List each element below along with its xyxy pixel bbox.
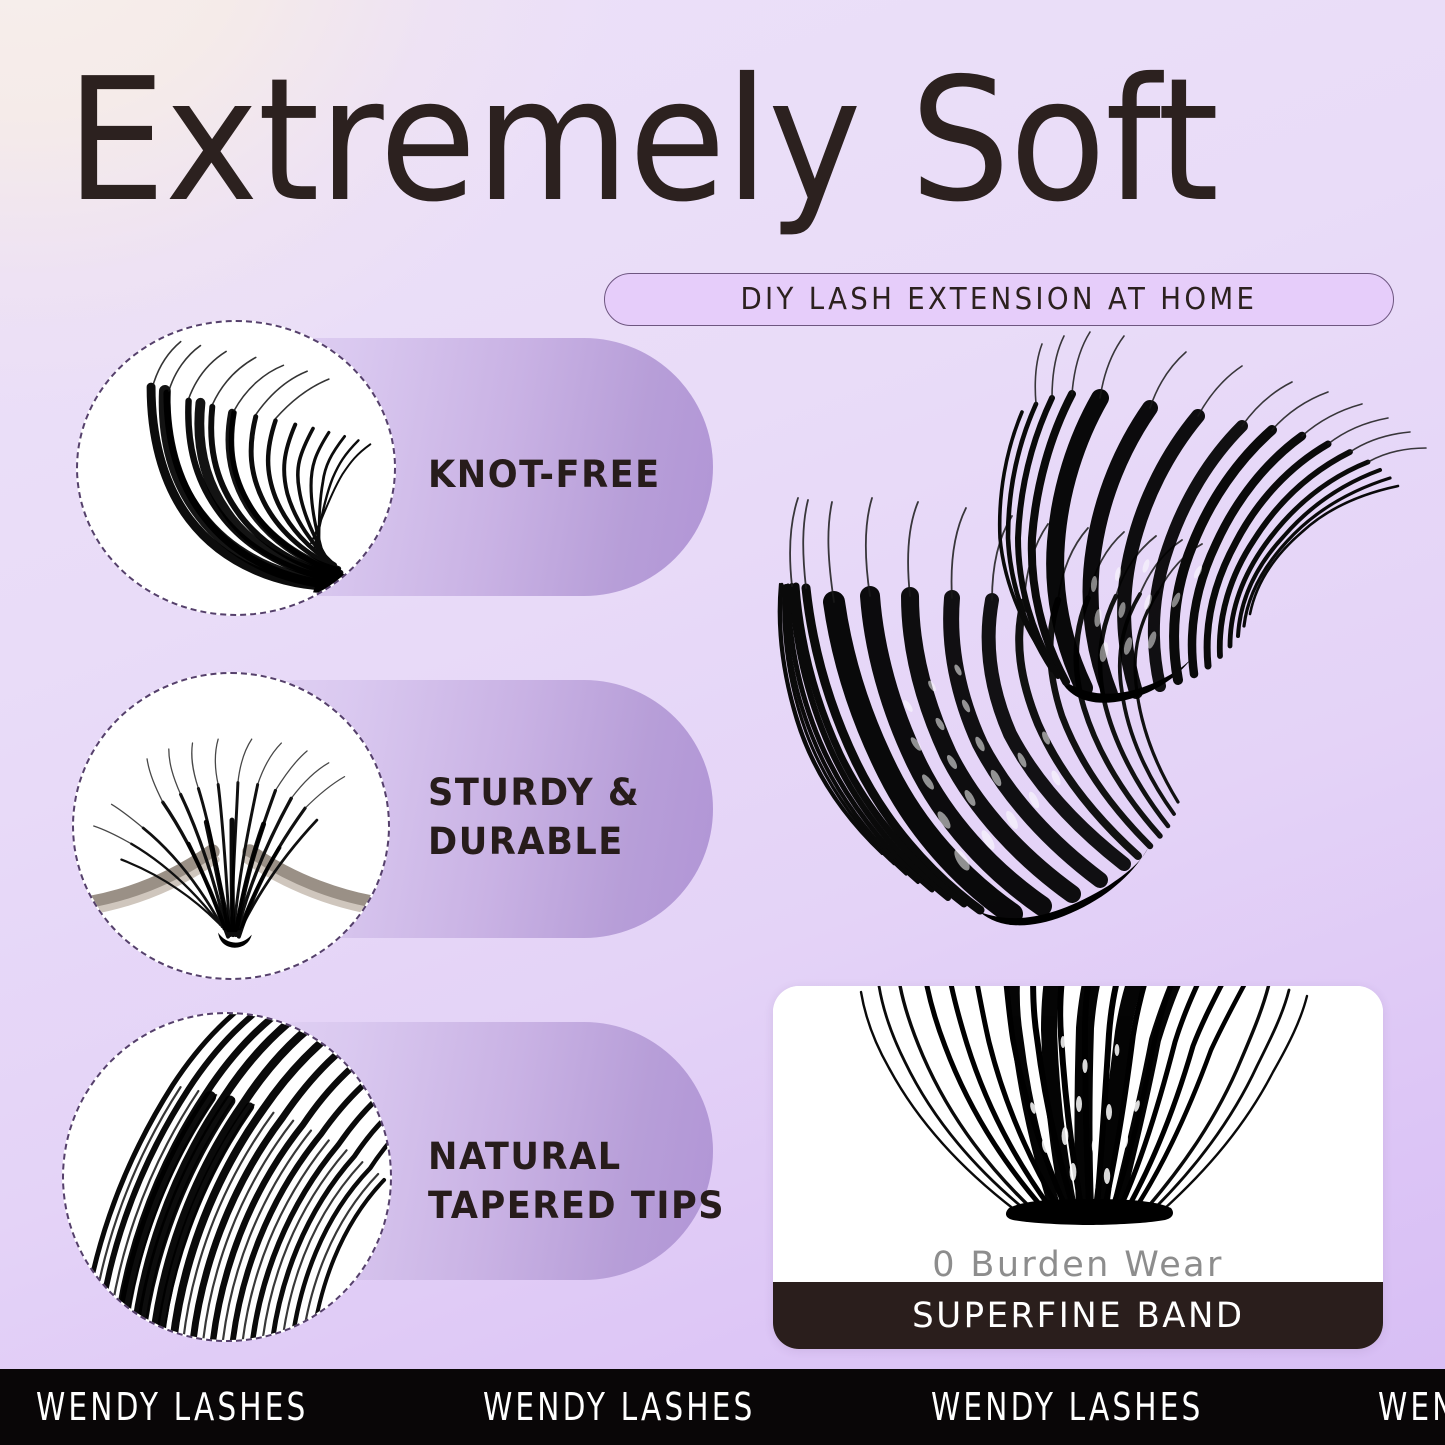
brand-name: WENDY LASHES bbox=[1378, 1385, 1445, 1429]
feature-image-knot-free bbox=[76, 320, 396, 616]
subtitle-pill-label: DIY LASH EXTENSION AT HOME bbox=[741, 282, 1258, 317]
feature-image-natural-tapered-tips bbox=[62, 1012, 392, 1342]
feature-image-sturdy-durable bbox=[72, 672, 390, 980]
hero-lash-image bbox=[712, 300, 1442, 980]
hero-lash-clusters-icon bbox=[712, 300, 1442, 980]
infographic-canvas: Extremely Soft DIY LASH EXTENSION AT HOM… bbox=[0, 0, 1445, 1445]
card-image bbox=[773, 986, 1383, 1241]
feature-label-line: TAPERED TIPS bbox=[428, 1181, 725, 1230]
brand-strip: WENDY LASHES WENDY LASHES WENDY LASHES W… bbox=[0, 1369, 1445, 1445]
tapered-tips-lash-icon bbox=[64, 1014, 390, 1340]
knot-free-lash-icon bbox=[78, 322, 394, 614]
sturdy-durable-lash-icon bbox=[74, 674, 388, 978]
brand-name: WENDY LASHES bbox=[931, 1385, 1204, 1429]
brand-name: WENDY LASHES bbox=[36, 1385, 309, 1429]
feature-label-natural-tapered-tips: NATURAL TAPERED TIPS bbox=[428, 1132, 725, 1230]
subtitle-pill: DIY LASH EXTENSION AT HOME bbox=[604, 273, 1394, 326]
superfine-band-card: 0 Burden Wear SUPERFINE BAND bbox=[773, 986, 1383, 1349]
superfine-band-closeup-icon bbox=[773, 986, 1383, 1241]
feature-label-line: NATURAL bbox=[428, 1132, 725, 1181]
feature-label-line: KNOT-FREE bbox=[428, 450, 661, 499]
page-title: Extremely Soft bbox=[66, 56, 1331, 226]
brand-name: WENDY LASHES bbox=[483, 1385, 756, 1429]
feature-label-line: DURABLE bbox=[428, 817, 640, 866]
card-footer-bar: SUPERFINE BAND bbox=[773, 1282, 1383, 1349]
feature-label-sturdy-durable: STURDY & DURABLE bbox=[428, 768, 640, 866]
card-footer-label: SUPERFINE BAND bbox=[912, 1296, 1244, 1336]
feature-label-line: STURDY & bbox=[428, 768, 640, 817]
feature-label-knot-free: KNOT-FREE bbox=[428, 450, 661, 499]
